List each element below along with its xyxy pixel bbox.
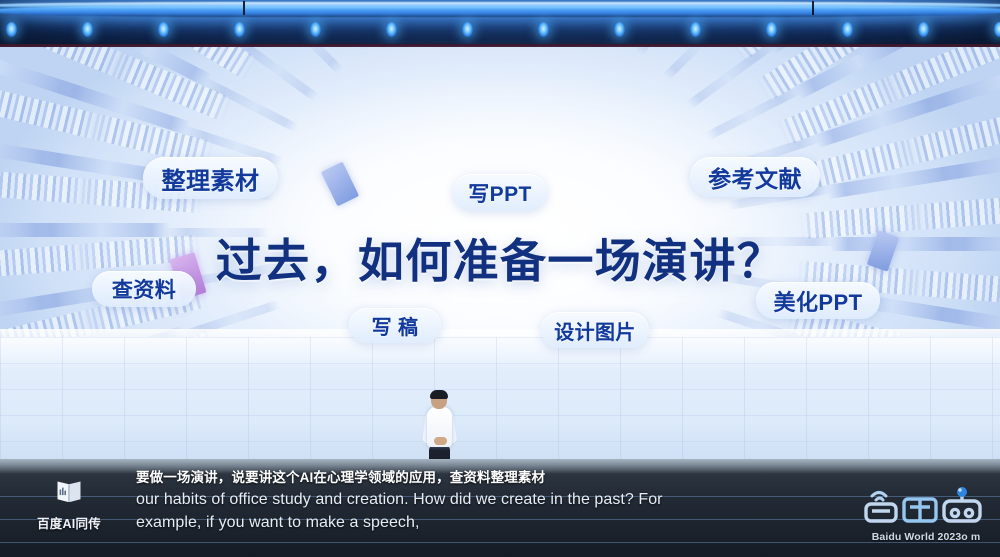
watermark-event-text: Baidu World 2023 [872, 531, 962, 543]
book-row [0, 165, 93, 204]
keyword-pill-label: 设计图片 [554, 316, 636, 345]
keyword-pill-look-up-materials: 查资料 [92, 271, 196, 307]
subtitle-divider [0, 542, 1000, 543]
ceiling-light-strip-core [0, 2, 1000, 9]
ceiling-spotlight [538, 22, 549, 37]
ceiling-spotlight [918, 22, 929, 37]
keyword-pill-label: 查资料 [112, 274, 176, 304]
floor-grid [0, 337, 1000, 459]
speaker-hair [430, 390, 448, 399]
keyword-pill-label: 写PPT [468, 178, 532, 208]
ceiling-spotlight [386, 22, 397, 37]
keyword-pill-label: 美化PPT [774, 285, 863, 317]
keyword-pill-beautify-ppt: 美化PPT [756, 282, 880, 319]
ceiling-spotlight [766, 22, 777, 37]
keyword-pill-design-images: 设计图片 [541, 312, 649, 348]
subtitle-text-block: 要做一场演讲，说要讲这个AI在心理学领域的应用，查资料整理素材 our habi… [136, 468, 856, 534]
stage-floor [0, 337, 1000, 459]
open-book-icon [54, 476, 84, 506]
keyword-pill-label: 整理素材 [162, 161, 260, 196]
light-strip-seam [812, 1, 814, 15]
keyword-pill-write-draft: 写 稿 [349, 308, 441, 343]
ceiling-spotlight [234, 22, 245, 37]
channel-watermark: Baidu World 2023o m [860, 482, 992, 544]
light-strip-seam [243, 1, 245, 15]
keyword-pill-organize-materials: 整理素材 [143, 157, 278, 199]
ceiling-spotlight [462, 22, 473, 37]
keyword-pill-references: 参考文献 [690, 157, 820, 197]
watermark-suffix: o m [961, 531, 980, 543]
speaker-hands [434, 437, 447, 445]
speaker-figure [418, 391, 460, 459]
ceiling-spotlight [994, 22, 1000, 37]
ceiling-spotlight [158, 22, 169, 37]
ceiling-spotlight [82, 22, 93, 37]
keyword-pill-label: 写 稿 [372, 311, 419, 340]
ceiling-spotlight [690, 22, 701, 37]
ceiling-spotlight [6, 22, 17, 37]
ceiling-spotlight [310, 22, 321, 37]
speaker-legs [429, 445, 450, 459]
interpretation-brand: 百度AI同传 [14, 476, 124, 532]
keyword-pill-label: 参考文献 [708, 160, 802, 194]
subtitle-chinese: 要做一场演讲，说要讲这个AI在心理学领域的应用，查资料整理素材 [136, 468, 856, 488]
subtitle-english-line-2: example, if you want to make a speech, [136, 511, 856, 534]
stage-led-screen: 过去，如何准备一场演讲？ 整理素材写PPT参考文献查资料美化PPT写 稿设计图片 [0, 47, 1000, 459]
interpretation-brand-label: 百度AI同传 [14, 513, 124, 532]
ceiling-spotlight [614, 22, 625, 37]
subtitle-english-line-1: our habits of office study and creation.… [136, 488, 856, 511]
keyword-pill-write-ppt: 写PPT [453, 174, 547, 211]
watermark-event-label: Baidu World 2023o m [860, 531, 992, 543]
broadcast-frame: 过去，如何准备一场演讲？ 整理素材写PPT参考文献查资料美化PPT写 稿设计图片 [0, 0, 1000, 557]
venue-ceiling [0, 0, 1000, 48]
ceiling-spotlight [842, 22, 853, 37]
zhidongxi-logo-icon [860, 482, 992, 530]
